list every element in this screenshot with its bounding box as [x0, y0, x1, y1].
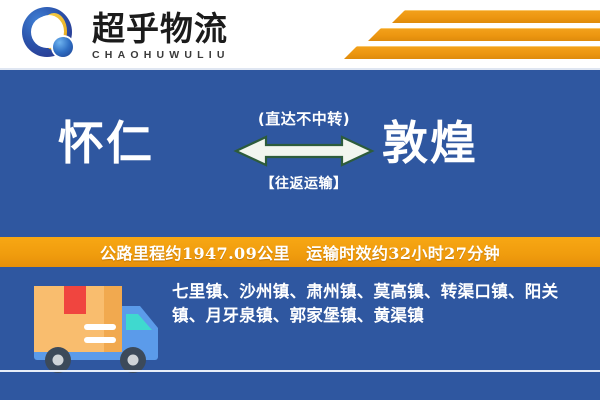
round-trip-note: 【往返运输】 — [232, 173, 376, 193]
logistics-route-banner: 超乎物流 CHAOHUWULIU 怀仁 (直达不中转) 【往返运输】 敦煌 公路 — [0, 0, 600, 400]
brand-name-en: CHAOHUWULIU — [92, 49, 230, 62]
header-bar: 超乎物流 CHAOHUWULIU — [0, 0, 600, 70]
service-towns-section: 七里镇、沙州镇、肃州镇、莫高镇、转渠口镇、阳关镇、月牙泉镇、郭家堡镇、黄渠镇 — [0, 267, 600, 400]
route-section: 怀仁 (直达不中转) 【往返运输】 敦煌 — [0, 70, 600, 235]
brand-name-cn: 超乎物流 — [92, 11, 230, 47]
double-headed-arrow-icon — [232, 134, 376, 168]
direct-route-note: (直达不中转) — [232, 108, 376, 129]
arrow-svg — [232, 134, 376, 168]
brand-lockup: 超乎物流 CHAOHUWULIU — [22, 7, 230, 65]
circle-crescent-logo-icon — [22, 7, 80, 65]
logo-sphere-dot — [53, 37, 73, 57]
stripe-1 — [392, 10, 600, 23]
stripe-2 — [368, 28, 600, 41]
destination-city: 敦煌 — [382, 120, 478, 166]
origin-city: 怀仁 — [58, 120, 154, 166]
route-middle-block: (直达不中转) 【往返运输】 — [232, 108, 376, 193]
bottom-divider — [0, 370, 600, 372]
stripe-3 — [344, 46, 600, 59]
service-towns-list: 七里镇、沙州镇、肃州镇、莫高镇、转渠口镇、阳关镇、月牙泉镇、郭家堡镇、黄渠镇 — [172, 280, 582, 328]
distance-duration-text: 公路里程约1947.09公里 运输时效约32小时27分钟 — [100, 240, 500, 264]
brand-text-block: 超乎物流 CHAOHUWULIU — [92, 11, 230, 61]
distance-duration-bar: 公路里程约1947.09公里 运输时效约32小时27分钟 — [0, 237, 600, 267]
truck-svg — [28, 280, 168, 380]
delivery-truck-icon — [28, 280, 168, 380]
orange-chevron-stripes-icon — [320, 8, 600, 64]
